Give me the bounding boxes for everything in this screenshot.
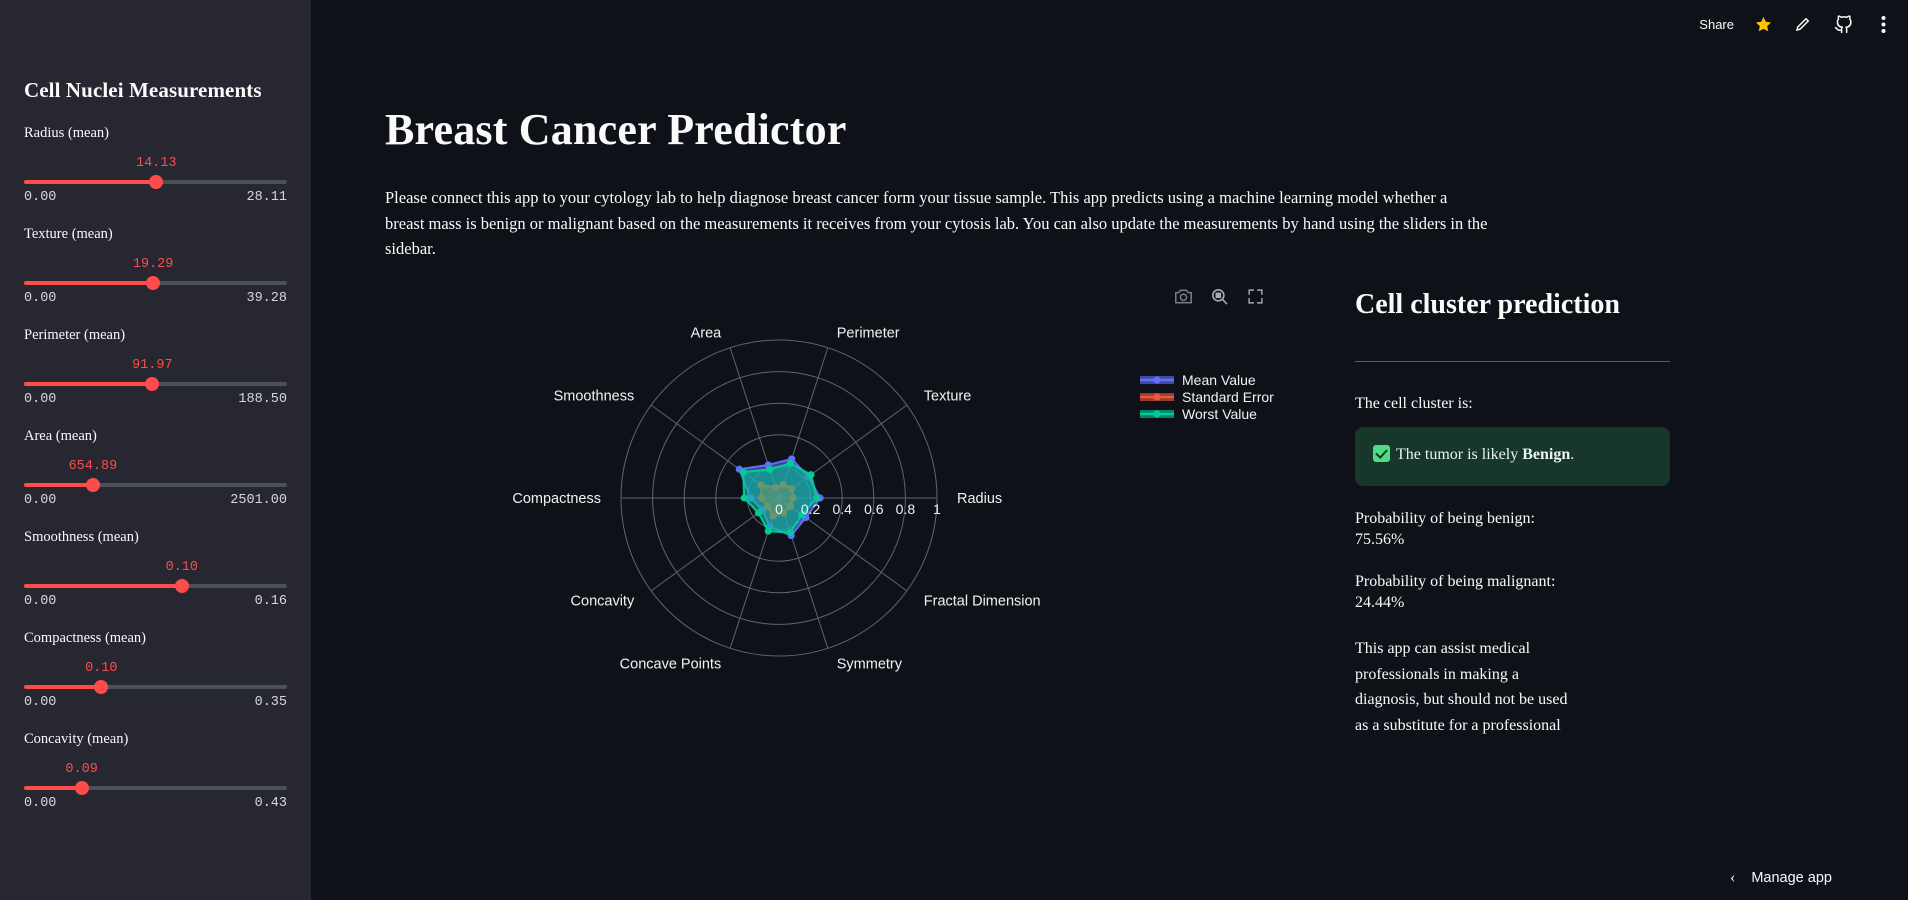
radar-series[interactable]: [740, 460, 821, 536]
radar-axis-label: Texture: [924, 388, 972, 404]
slider-min-value: 0.00: [24, 695, 56, 710]
zoom-icon[interactable]: [1208, 286, 1230, 308]
slider-max-value: 0.16: [255, 594, 287, 609]
radar-chart[interactable]: 00.20.40.60.81RadiusTexturePerimeterArea…: [385, 286, 1280, 716]
slider-value-row: 91.97: [24, 358, 287, 375]
malignant-probability-label: Probability of being malignant:: [1355, 573, 1670, 591]
slider-compactness-mean[interactable]: Compactness (mean)0.100.000.35: [24, 630, 287, 710]
prediction-divider: [1355, 361, 1670, 362]
radar-legend[interactable]: Mean ValueStandard ErrorWorst Value: [1140, 372, 1274, 422]
slider-label: Radius (mean): [24, 125, 287, 142]
slider-value-row: 0.09: [24, 762, 287, 779]
radar-axis-label: Smoothness: [554, 388, 635, 404]
slider-current-value: 0.09: [65, 762, 97, 777]
slider-fill: [24, 584, 182, 588]
radar-axis-label: Concave Points: [620, 656, 722, 672]
slider-track[interactable]: [24, 483, 287, 487]
manage-app-bar: ‹ Manage app: [1710, 856, 1908, 900]
slider-max-value: 2501.00: [230, 493, 287, 508]
slider-max-value: 188.50: [238, 392, 287, 407]
slider-label: Smoothness (mean): [24, 529, 287, 546]
slider-value-row: 0.10: [24, 560, 287, 577]
radar-axis-label: Concavity: [571, 593, 635, 609]
slider-minmax: 0.0028.11: [24, 190, 287, 205]
sidebar-slider-list: Radius (mean)14.130.0028.11Texture (mean…: [24, 125, 287, 811]
slider-track[interactable]: [24, 584, 287, 588]
prediction-intro: The cell cluster is:: [1355, 395, 1670, 413]
slider-current-value: 654.89: [69, 459, 118, 474]
slider-thumb[interactable]: [175, 579, 189, 593]
slider-track[interactable]: [24, 786, 287, 790]
sidebar-title: Cell Nuclei Measurements: [24, 78, 287, 103]
slider-fill: [24, 685, 101, 689]
share-button[interactable]: Share: [1699, 17, 1734, 32]
sidebar: Cell Nuclei Measurements Radius (mean)14…: [0, 0, 311, 900]
radial-tick-label: 0.2: [801, 501, 821, 517]
slider-label: Texture (mean): [24, 226, 287, 243]
prediction-result-suffix: .: [1570, 446, 1574, 463]
radial-tick-label: 0: [775, 501, 783, 517]
prediction-column: Cell cluster prediction The cell cluster…: [1355, 286, 1670, 740]
prediction-result-box: The tumor is likely Benign.: [1355, 427, 1670, 486]
slider-texture-mean[interactable]: Texture (mean)19.290.0039.28: [24, 226, 287, 306]
slider-min-value: 0.00: [24, 392, 56, 407]
page-title: Breast Cancer Predictor: [385, 104, 1836, 155]
fullscreen-icon[interactable]: [1244, 286, 1266, 308]
slider-value-row: 19.29: [24, 257, 287, 274]
legend-item-label[interactable]: Standard Error: [1182, 389, 1274, 405]
slider-max-value: 39.28: [246, 291, 287, 306]
prediction-result-prefix: The tumor is likely: [1396, 446, 1522, 463]
slider-min-value: 0.00: [24, 796, 56, 811]
manage-app-button[interactable]: Manage app: [1751, 870, 1832, 886]
prediction-result-value: Benign: [1522, 446, 1570, 463]
chevron-left-icon[interactable]: ‹: [1730, 869, 1735, 887]
slider-track[interactable]: [24, 180, 287, 184]
pencil-icon[interactable]: [1792, 13, 1814, 35]
slider-fill: [24, 281, 153, 285]
prediction-title: Cell cluster prediction: [1355, 289, 1670, 321]
slider-thumb[interactable]: [146, 276, 160, 290]
slider-label: Area (mean): [24, 428, 287, 445]
benign-probability-label: Probability of being benign:: [1355, 510, 1670, 528]
radar-axis-label: Radius: [957, 491, 1002, 507]
slider-thumb[interactable]: [94, 680, 108, 694]
slider-fill: [24, 180, 156, 184]
slider-current-value: 0.10: [85, 661, 117, 676]
radar-axis-label: Fractal Dimension: [924, 593, 1041, 609]
slider-max-value: 28.11: [246, 190, 287, 205]
radar-axis-label: Perimeter: [837, 325, 900, 341]
legend-item-label[interactable]: Worst Value: [1182, 406, 1257, 422]
slider-minmax: 0.000.35: [24, 695, 287, 710]
top-toolbar: Share: [1699, 13, 1894, 35]
streamlit-app: Cell Nuclei Measurements Radius (mean)14…: [0, 0, 1908, 900]
content-columns: 00.20.40.60.81RadiusTexturePerimeterArea…: [385, 286, 1836, 740]
slider-label: Compactness (mean): [24, 630, 287, 647]
radar-axis-label: Area: [691, 325, 723, 341]
slider-current-value: 91.97: [132, 358, 173, 373]
disclaimer-text: This app can assist medical professional…: [1355, 636, 1577, 740]
slider-thumb[interactable]: [86, 478, 100, 492]
slider-value-row: 0.10: [24, 661, 287, 678]
legend-item-label[interactable]: Mean Value: [1182, 372, 1256, 388]
slider-fill: [24, 786, 82, 790]
radar-chart-svg[interactable]: 00.20.40.60.81RadiusTexturePerimeterArea…: [385, 286, 1280, 716]
slider-value-row: 654.89: [24, 459, 287, 476]
github-icon[interactable]: [1832, 13, 1854, 35]
radar-radial-ticks: 00.20.40.60.81: [775, 501, 941, 517]
slider-max-value: 0.43: [255, 796, 287, 811]
radial-tick-label: 0.8: [896, 501, 916, 517]
plotly-modebar: [1172, 286, 1266, 308]
slider-current-value: 0.10: [166, 560, 198, 575]
slider-thumb[interactable]: [149, 175, 163, 189]
page-description: Please connect this app to your cytology…: [385, 185, 1490, 262]
slider-thumb[interactable]: [75, 781, 89, 795]
main-content: Breast Cancer Predictor Please connect t…: [311, 0, 1908, 900]
slider-minmax: 0.0039.28: [24, 291, 287, 306]
slider-min-value: 0.00: [24, 594, 56, 609]
slider-concavity-mean[interactable]: Concavity (mean)0.090.000.43: [24, 731, 287, 811]
slider-minmax: 0.002501.00: [24, 493, 287, 508]
benign-probability-value: 75.56%: [1355, 531, 1670, 549]
slider-thumb[interactable]: [145, 377, 159, 391]
slider-fill: [24, 382, 152, 386]
slider-track[interactable]: [24, 382, 287, 386]
radar-axis-label: Compactness: [512, 491, 601, 507]
slider-label: Perimeter (mean): [24, 327, 287, 344]
slider-minmax: 0.000.43: [24, 796, 287, 811]
slider-track[interactable]: [24, 281, 287, 285]
camera-icon[interactable]: [1172, 286, 1194, 308]
slider-area-mean[interactable]: Area (mean)654.890.002501.00: [24, 428, 287, 508]
radial-tick-label: 0.6: [864, 501, 884, 517]
radar-axis-label: Symmetry: [837, 656, 903, 672]
slider-current-value: 19.29: [133, 257, 174, 272]
slider-label: Concavity (mean): [24, 731, 287, 748]
star-icon[interactable]: [1752, 13, 1774, 35]
malignant-probability-value: 24.44%: [1355, 594, 1670, 612]
slider-minmax: 0.000.16: [24, 594, 287, 609]
slider-smoothness-mean[interactable]: Smoothness (mean)0.100.000.16: [24, 529, 287, 609]
slider-perimeter-mean[interactable]: Perimeter (mean)91.970.00188.50: [24, 327, 287, 407]
slider-track[interactable]: [24, 685, 287, 689]
slider-fill: [24, 483, 93, 487]
slider-value-row: 14.13: [24, 156, 287, 173]
radial-tick-label: 1: [933, 501, 941, 517]
slider-current-value: 14.13: [136, 156, 177, 171]
radar-chart-column: 00.20.40.60.81RadiusTexturePerimeterArea…: [385, 286, 1280, 740]
check-icon: [1373, 445, 1390, 462]
radial-tick-label: 0.4: [832, 501, 852, 517]
kebab-menu-icon[interactable]: [1872, 13, 1894, 35]
slider-min-value: 0.00: [24, 493, 56, 508]
slider-min-value: 0.00: [24, 291, 56, 306]
slider-max-value: 0.35: [255, 695, 287, 710]
slider-radius-mean[interactable]: Radius (mean)14.130.0028.11: [24, 125, 287, 205]
slider-min-value: 0.00: [24, 190, 56, 205]
slider-minmax: 0.00188.50: [24, 392, 287, 407]
